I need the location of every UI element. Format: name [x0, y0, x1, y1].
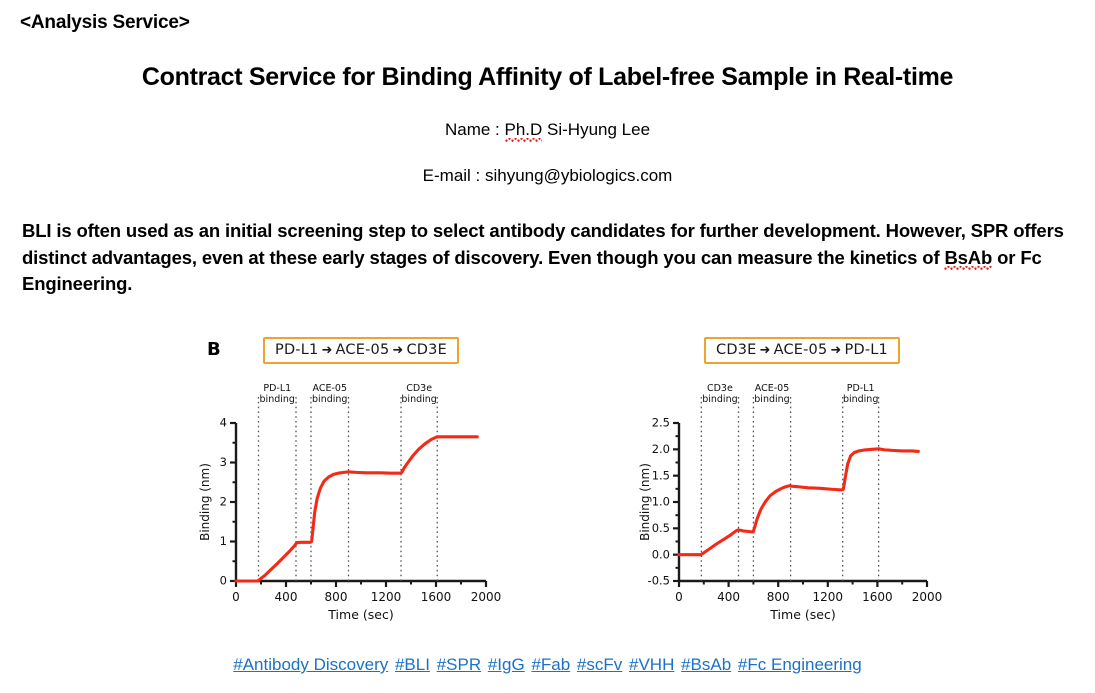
flow-right-step-2: ACE-05	[774, 342, 828, 358]
phase-label-name: CD3e	[707, 383, 733, 394]
figure-panel-letter: B	[207, 339, 221, 360]
paragraph-line-3a: can measure the kinetics of	[701, 247, 945, 268]
body-paragraph: BLI is often used as an initial screenin…	[22, 218, 1082, 298]
hashtag-link-vhh[interactable]: #VHH	[629, 655, 674, 674]
x-axis-title: Time (sec)	[769, 607, 835, 622]
y-axis-title: Binding (nm)	[198, 463, 212, 541]
phase-label-sub: binding	[312, 394, 347, 405]
data-series-line	[236, 437, 477, 581]
arrow-right-icon: ➜	[389, 343, 406, 358]
y-tick-label: 3	[220, 455, 227, 469]
binding-sensorgram-right: -0.50.00.51.01.52.02.5040080012001600200…	[637, 378, 937, 623]
y-tick-label: 2	[220, 495, 227, 509]
x-tick-label: 1600	[421, 590, 452, 604]
hashtag-link-bli[interactable]: #BLI	[395, 655, 430, 674]
phase-label-name: PD-L1	[847, 383, 875, 394]
hashtag-link-scfv[interactable]: #scFv	[577, 655, 622, 674]
contact-name-prefix: Name :	[445, 120, 505, 139]
arrow-right-icon: ➜	[827, 343, 844, 358]
y-tick-label: 1.5	[652, 468, 670, 482]
hashtag-link-spr[interactable]: #SPR	[437, 655, 481, 674]
y-tick-label: 1	[220, 534, 227, 548]
x-tick-label: 400	[275, 590, 298, 604]
phase-label-sub: binding	[754, 394, 789, 405]
x-tick-label: 800	[767, 590, 790, 604]
x-tick-label: 1200	[813, 590, 844, 604]
phase-label-sub: binding	[260, 394, 295, 405]
y-tick-label: -0.5	[648, 574, 670, 588]
hashtag-link-bsab[interactable]: #BsAb	[681, 655, 731, 674]
x-tick-label: 400	[717, 590, 740, 604]
contact-name-line: Name : Ph.D Si-Hyung Lee	[0, 120, 1095, 140]
contact-name-rest: Si-Hyung Lee	[542, 120, 650, 139]
hashtag-link-fc-engineering[interactable]: #Fc Engineering	[738, 655, 862, 674]
hashtag-link-igg[interactable]: #IgG	[488, 655, 525, 674]
flow-left-step-1: PD-L1	[275, 342, 318, 358]
hashtag-links: #Antibody Discovery #BLI #SPR #IgG #Fab …	[0, 655, 1095, 675]
hashtag-link-antibody-discovery[interactable]: #Antibody Discovery	[233, 655, 388, 674]
paragraph-spellchecked-term: BsAb	[944, 247, 992, 272]
phase-label-sub: binding	[843, 394, 878, 405]
phase-label-name: ACE-05	[313, 383, 347, 394]
y-tick-label: 1.0	[652, 495, 670, 509]
binding-sensorgram-left: 012340400800120016002000PD-L1bindingACE-…	[196, 378, 496, 623]
y-tick-label: 0.0	[652, 547, 670, 561]
flow-right-step-3: PD-L1	[845, 342, 888, 358]
flow-right-step-1: CD3E	[716, 342, 756, 358]
arrow-right-icon: ➜	[756, 343, 773, 358]
x-tick-label: 800	[325, 590, 348, 604]
x-tick-label: 2000	[471, 590, 502, 604]
y-tick-label: 2.0	[652, 442, 670, 456]
slide-page: <Analysis Service> Contract Service for …	[0, 0, 1095, 693]
paragraph-line-1: BLI is often used as an initial screenin…	[22, 220, 881, 241]
contact-name-degree: Ph.D	[505, 120, 543, 143]
phase-label-name: ACE-05	[755, 383, 789, 394]
page-title: Contract Service for Binding Affinity of…	[0, 63, 1095, 92]
x-tick-label: 2000	[912, 590, 943, 604]
y-axis-title: Binding (nm)	[638, 463, 652, 541]
x-tick-label: 0	[232, 590, 240, 604]
y-tick-label: 0	[220, 574, 227, 588]
flow-label-left: PD-L1➜ACE-05➜CD3E	[263, 337, 459, 364]
x-tick-label: 0	[675, 590, 683, 604]
x-tick-label: 1200	[371, 590, 402, 604]
arrow-right-icon: ➜	[318, 343, 335, 358]
flow-label-right: CD3E➜ACE-05➜PD-L1	[704, 337, 900, 364]
section-kicker: <Analysis Service>	[20, 12, 190, 34]
phase-label-name: PD-L1	[263, 383, 291, 394]
x-tick-label: 1600	[862, 590, 893, 604]
y-tick-label: 0.5	[652, 521, 670, 535]
phase-label-name: CD3e	[406, 383, 432, 394]
phase-label-sub: binding	[401, 394, 436, 405]
flow-left-step-3: CD3E	[406, 342, 446, 358]
y-tick-label: 4	[220, 416, 227, 430]
flow-left-step-2: ACE-05	[336, 342, 390, 358]
phase-label-sub: binding	[702, 394, 737, 405]
y-tick-label: 2.5	[652, 416, 670, 430]
x-axis-title: Time (sec)	[327, 607, 393, 622]
hashtag-link-fab[interactable]: #Fab	[531, 655, 570, 674]
data-series-line	[679, 449, 918, 555]
contact-email-line: E-mail : sihyung@ybiologics.com	[0, 166, 1095, 186]
